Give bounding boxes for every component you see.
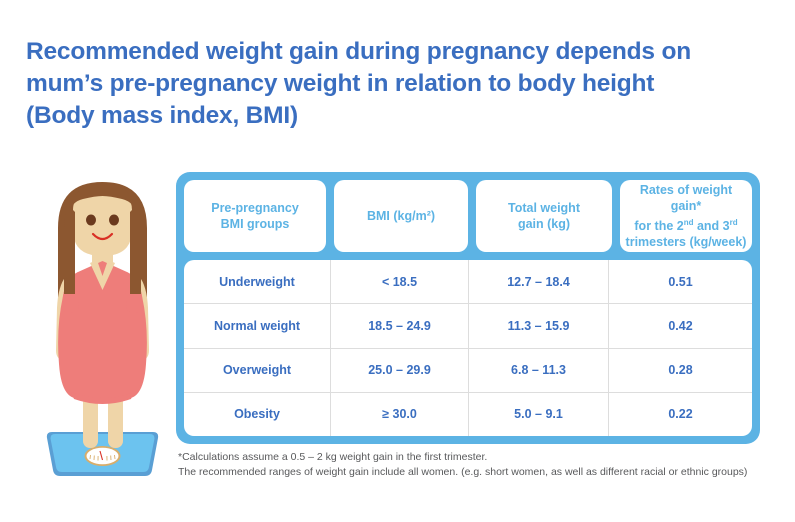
cell-bmi-group: Underweight — [184, 260, 330, 303]
table-body: Underweight < 18.5 12.7 – 18.4 0.51 Norm… — [184, 260, 752, 436]
cell-rate-of-gain: 0.42 — [608, 304, 752, 347]
weighing-scale-icon — [47, 432, 158, 476]
left-eye — [86, 215, 96, 226]
pregnant-woman-illustration — [30, 168, 175, 488]
cell-bmi-value: ≥ 30.0 — [330, 393, 468, 436]
infographic-page: Recommended weight gain during pregnancy… — [0, 0, 795, 522]
header-line-1: BMI (kg/m²) — [367, 209, 435, 223]
table-row: Normal weight 18.5 – 24.9 11.3 – 15.9 0.… — [184, 303, 752, 347]
footnote-line-2: The recommended ranges of weight gain in… — [178, 465, 790, 480]
header-line-2: for the 2nd and 3rd — [634, 219, 737, 233]
table-row: Overweight 25.0 – 29.9 6.8 – 11.3 0.28 — [184, 348, 752, 392]
column-header-rate-of-gain: Rates of weight gain* for the 2nd and 3r… — [620, 180, 752, 252]
header-line-2: BMI groups — [221, 217, 290, 231]
cell-rate-of-gain: 0.51 — [608, 260, 752, 303]
cell-total-weight-gain: 6.8 – 11.3 — [468, 349, 608, 392]
cell-bmi-group: Overweight — [184, 349, 330, 392]
right-eye — [109, 215, 119, 226]
cell-total-weight-gain: 12.7 – 18.4 — [468, 260, 608, 303]
cell-bmi-value: 18.5 – 24.9 — [330, 304, 468, 347]
column-header-total-weight-gain: Total weight gain (kg) — [476, 180, 612, 252]
column-header-bmi-group: Pre-pregnancy BMI groups — [184, 180, 326, 252]
page-title: Recommended weight gain during pregnancy… — [26, 36, 766, 132]
header-line-3: trimesters (kg/week) — [626, 235, 747, 249]
cell-total-weight-gain: 5.0 – 9.1 — [468, 393, 608, 436]
title-line-1: Recommended weight gain during pregnancy… — [26, 36, 766, 68]
cell-bmi-group: Obesity — [184, 393, 330, 436]
bmi-recommendation-table: Pre-pregnancy BMI groups BMI (kg/m²) Tot… — [176, 172, 760, 444]
column-header-bmi-value: BMI (kg/m²) — [334, 180, 468, 252]
face — [73, 190, 132, 256]
cell-rate-of-gain: 0.28 — [608, 349, 752, 392]
title-line-2: mum’s pre-pregnancy weight in relation t… — [26, 68, 766, 100]
cell-rate-of-gain: 0.22 — [608, 393, 752, 436]
header-line-1: Total weight — [508, 201, 580, 215]
footnote-line-1: *Calculations assume a 0.5 – 2 kg weight… — [178, 450, 790, 465]
table-header-row: Pre-pregnancy BMI groups BMI (kg/m²) Tot… — [184, 180, 752, 252]
footnotes: *Calculations assume a 0.5 – 2 kg weight… — [178, 450, 790, 480]
cell-bmi-value: < 18.5 — [330, 260, 468, 303]
header-line-1: Pre-pregnancy — [211, 201, 299, 215]
cell-bmi-group: Normal weight — [184, 304, 330, 347]
header-line-1: Rates of weight gain* — [640, 183, 732, 213]
header-line-2: gain (kg) — [518, 217, 570, 231]
cell-bmi-value: 25.0 – 29.9 — [330, 349, 468, 392]
title-line-3: (Body mass index, BMI) — [26, 100, 766, 132]
table-row: Underweight < 18.5 12.7 – 18.4 0.51 — [184, 260, 752, 303]
table-row: Obesity ≥ 30.0 5.0 – 9.1 0.22 — [184, 392, 752, 436]
cell-total-weight-gain: 11.3 – 15.9 — [468, 304, 608, 347]
